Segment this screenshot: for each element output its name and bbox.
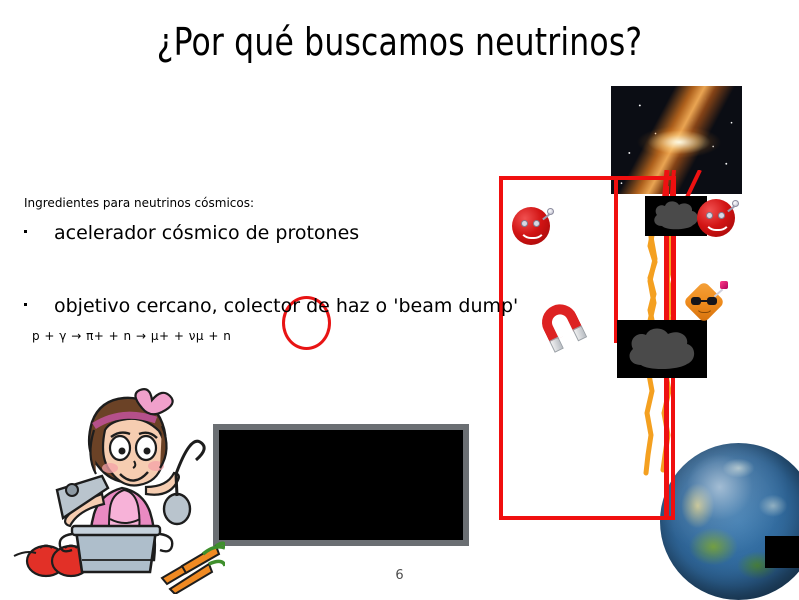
neutrino-antenna-icon (713, 281, 729, 297)
magnet-pole-left (549, 337, 564, 353)
proton-smiley-right (697, 199, 739, 241)
page-number: 6 (0, 568, 799, 583)
bullet-marker (24, 303, 27, 306)
bullet-item-1-label: acelerador cósmico de protones (54, 220, 534, 246)
lead-text: Ingredientes para neutrinos cósmicos: (24, 196, 254, 210)
bullet-item-2-label: objetivo cercano, colector de haz o 'bea… (54, 293, 534, 319)
page-title: ¿Por qué buscamos neutrinos? (32, 20, 767, 64)
cloud-shape-icon (623, 325, 701, 373)
black-corner-block (765, 536, 799, 568)
cloud-shape-icon (649, 199, 703, 233)
slide-canvas: ¿Por qué buscamos neutrinos? (0, 0, 799, 600)
bullet-marker (24, 230, 27, 233)
neutrino-character (686, 281, 730, 325)
black-rectangle-panel (213, 424, 469, 546)
proton-antenna-icon (727, 200, 738, 211)
cartoon-cook-illustration (10, 378, 225, 594)
reaction-formula: p + γ → π+ + n → μ+ + νμ + n (32, 328, 231, 344)
proton-antenna-icon (542, 208, 553, 219)
magnet-pole-right (572, 325, 587, 341)
neutrino-glasses-bridge (695, 300, 713, 302)
dark-cloud-bottom (617, 320, 707, 378)
cook-head (89, 389, 173, 485)
